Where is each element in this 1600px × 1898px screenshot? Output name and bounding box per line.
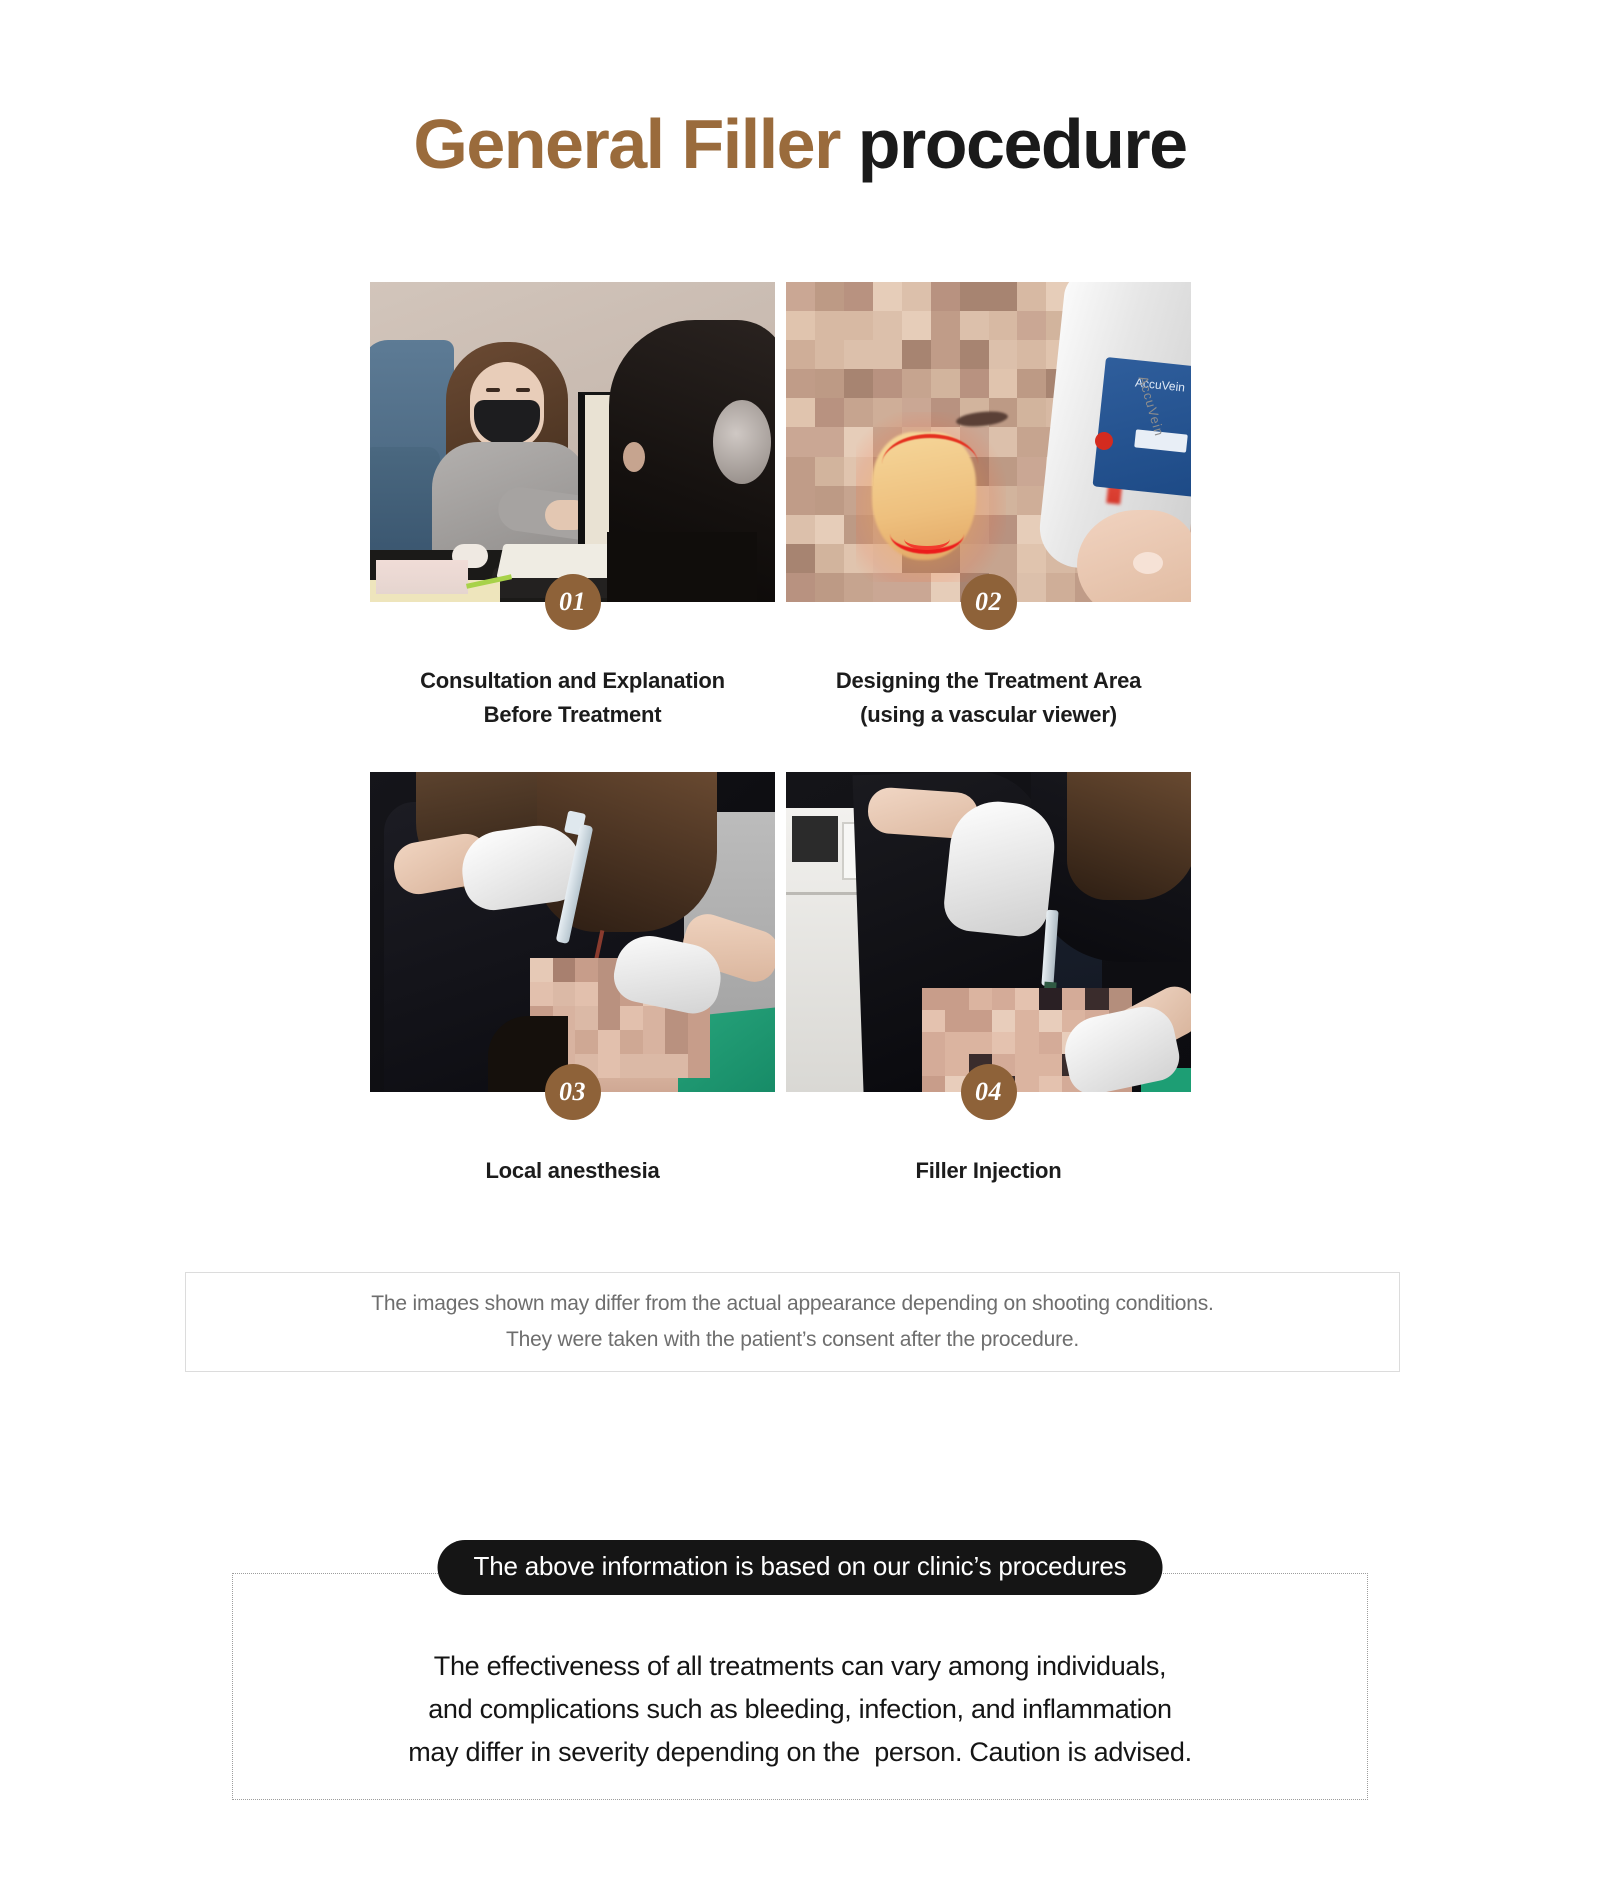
steps-row-top: 01 Consultation and Explanation Before T… [370,282,1190,732]
step-caption-02-line1: Designing the Treatment Area [786,664,1191,698]
image-disclaimer-line1: The images shown may differ from the act… [371,1289,1213,1319]
step-caption-04: Filler Injection [786,1154,1191,1188]
clinic-notice-line1: The effectiveness of all treatments can … [0,1645,1600,1688]
image-disclaimer-box: The images shown may differ from the act… [185,1272,1400,1372]
step-badge-01: 01 [545,574,601,630]
step-caption-01: Consultation and Explanation Before Trea… [370,664,775,732]
local-anesthesia-photo [370,772,775,1092]
procedure-steps-grid: 01 Consultation and Explanation Before T… [370,282,1190,1188]
clinic-notice-line3: may differ in severity depending on the … [0,1731,1600,1774]
step-caption-03: Local anesthesia [370,1154,775,1188]
clinic-notice-pill: The above information is based on our cl… [438,1540,1163,1595]
step-badge-02: 02 [961,574,1017,630]
consultation-photo [370,282,775,602]
filler-injection-photo [786,772,1191,1092]
step-card-04: 04 Filler Injection [786,772,1191,1188]
step-card-02: AccuVein AccuVein 02 Designing the Treat… [786,282,1191,732]
procedure-infographic-page: General Filler procedure [0,0,1600,1898]
page-title-accent: General Filler [413,105,839,183]
step-caption-02-line2: (using a vascular viewer) [786,698,1191,732]
step-caption-03-line1: Local anesthesia [370,1154,775,1188]
clinic-notice-body: The effectiveness of all treatments can … [0,1645,1600,1775]
step-badge-03: 03 [545,1064,601,1120]
image-disclaimer-line2: They were taken with the patient’s conse… [506,1325,1079,1355]
step-caption-04-line1: Filler Injection [786,1154,1191,1188]
step-caption-02: Designing the Treatment Area (using a va… [786,664,1191,732]
step-caption-01-line2: Before Treatment [370,698,775,732]
steps-row-bottom: 03 Local anesthesia [370,772,1190,1188]
step-badge-04: 04 [961,1064,1017,1120]
page-title: General Filler procedure [0,108,1600,182]
vein-viewer-photo: AccuVein AccuVein [786,282,1191,602]
step-card-01: 01 Consultation and Explanation Before T… [370,282,775,732]
step-card-03: 03 Local anesthesia [370,772,775,1188]
step-caption-01-line1: Consultation and Explanation [370,664,775,698]
clinic-notice-line2: and complications such as bleeding, infe… [0,1688,1600,1731]
page-title-rest: procedure [840,105,1187,183]
